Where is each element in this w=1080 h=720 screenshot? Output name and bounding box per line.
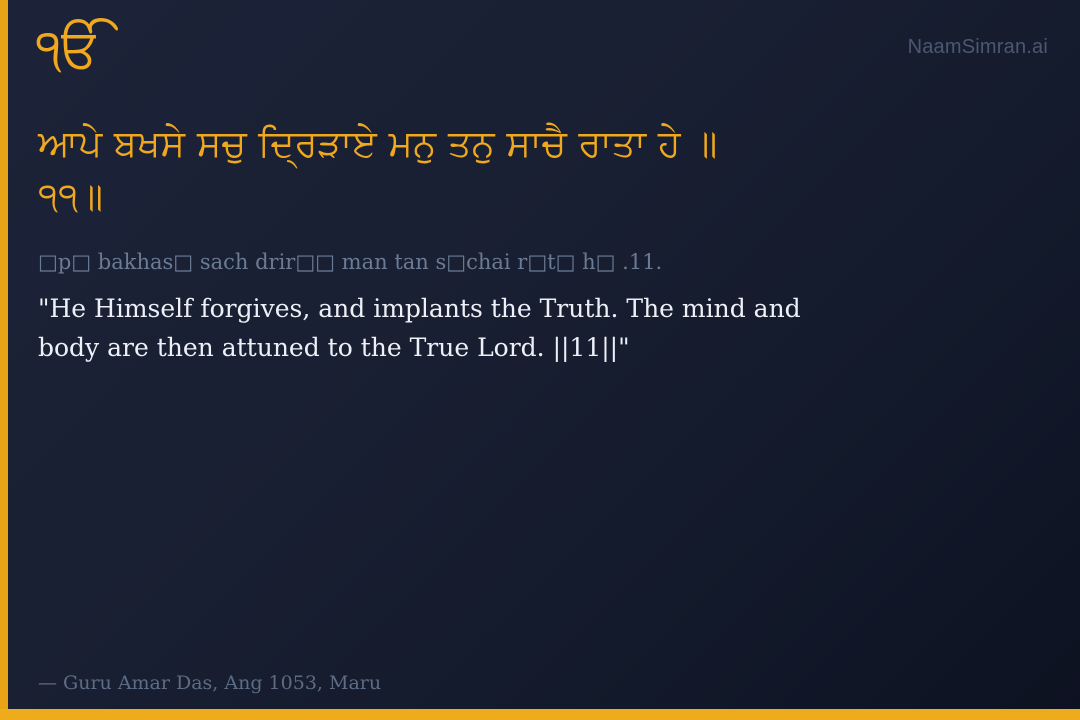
brand-watermark: NaamSimran.ai	[908, 36, 1048, 59]
bottom-accent-bar	[0, 709, 1080, 720]
attribution-footer: — Guru Amar Das, Ang 1053, Maru	[38, 672, 381, 694]
gurmukhi-verse: ਆਪੇ ਬਖਸੇ ਸਚੁ ਦ੍ਰਿੜਾਏ ਮਨੁ ਤਨੁ ਸਾਚੈ ਰਾਤਾ ਹ…	[38, 118, 718, 223]
transliteration-text: □p□ bakhas□ sach drir□□ man tan s□chai r…	[38, 249, 898, 276]
quote-card: NaamSimran.ai ੴ ਆਪੇ ਬਖਸੇ ਸਚੁ ਦ੍ਰਿੜਾਏ ਮਨੁ…	[0, 0, 1080, 720]
quote-content: ਆਪੇ ਬਖਸੇ ਸਚੁ ਦ੍ਰਿੜਾਏ ਮਨੁ ਤਨੁ ਸਾਚੈ ਰਾਤਾ ਹ…	[38, 118, 1038, 368]
english-translation: "He Himself forgives, and implants the T…	[38, 290, 828, 368]
left-accent-bar	[0, 0, 8, 720]
ik-onkar-icon: ੴ	[36, 22, 102, 76]
